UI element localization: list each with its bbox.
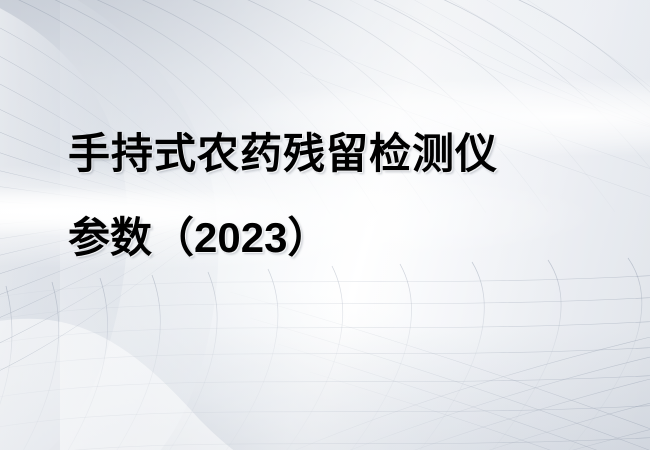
slide-title-line-2: 参数（2023） [68,196,608,280]
slide-title-block: 手持式农药残留检测仪 参数（2023） [68,112,608,280]
slide-title-line-1: 手持式农药残留检测仪 [68,112,608,196]
diagonal-mesh-bottom-right [230,292,650,450]
slide-canvas: 手持式农药残留检测仪 参数（2023） [0,0,650,450]
